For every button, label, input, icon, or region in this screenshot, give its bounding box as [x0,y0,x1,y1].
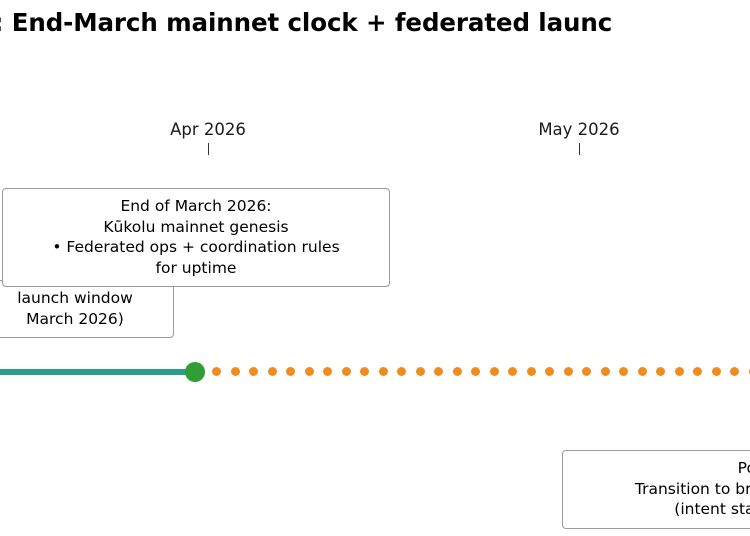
callout-genesis: End of March 2026: Kūkolu mainnet genesi… [2,188,390,287]
launch-window-segment [0,369,195,375]
page-title: t: End-March mainnet clock + federated l… [0,8,750,37]
callout-launch-window: launch window March 2026) [0,280,174,338]
axis-tick-label-apr-2026: Apr 2026 [133,120,283,139]
post-launch-segment [212,367,750,376]
axis-tick-label-may-2026: May 2026 [504,120,654,139]
callout-post-launch: Post-l Transition to broad (intent state… [562,450,750,529]
axis-tick-mark-may-2026 [579,143,580,155]
axis-tick-mark-apr-2026 [208,143,209,155]
mainnet-genesis-milestone [185,362,205,382]
timeline-diagram: t: End-March mainnet clock + federated l… [0,0,750,536]
